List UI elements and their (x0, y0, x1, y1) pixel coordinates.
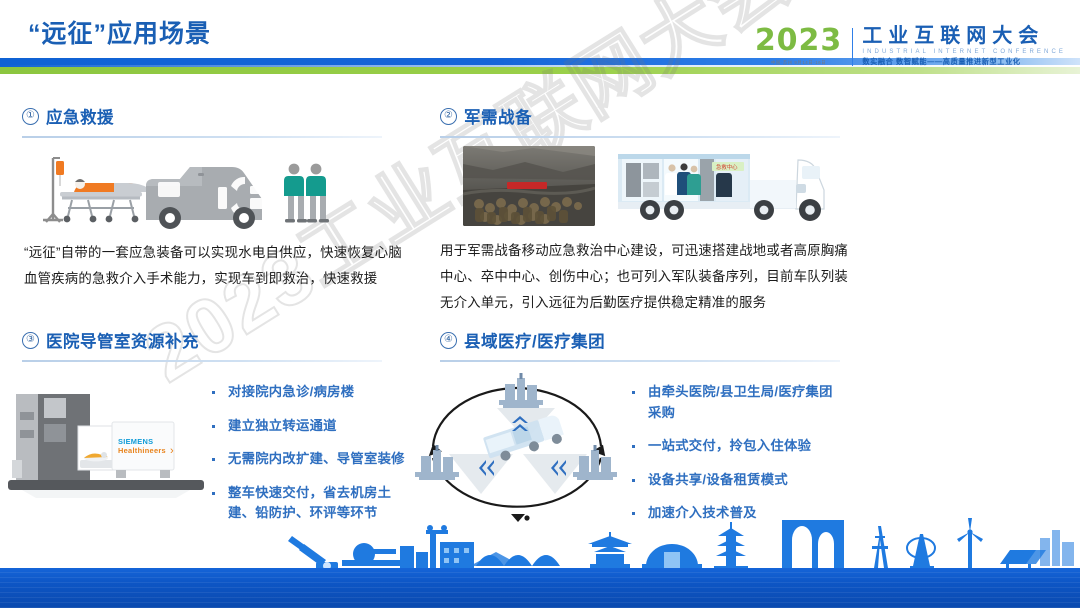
section-2-rule (440, 136, 840, 138)
hospital-sharing-cycle-diagram (405, 372, 630, 530)
section-4-title: 县域医疗/医疗集团 (464, 328, 605, 352)
section-2-header: ② 军需战备 (440, 104, 840, 128)
section-2-title: 军需战备 (464, 104, 532, 128)
section-1-rule (22, 136, 382, 138)
list-item: 由牵头医院/县卫生局/医疗集团采购 (628, 382, 843, 423)
list-item: 设备共享/设备租赁模式 (628, 470, 843, 491)
section-4-bullet-list: 由牵头医院/县卫生局/医疗集团采购 一站式交付，拎包入住体验 设备共享/设备租赁… (628, 382, 843, 537)
siemens-healthineers-scanner-illustration (8, 382, 204, 522)
section-1-header: ① 应急救援 (22, 104, 382, 128)
logo-year-block: 2023 中国·苏州 9月14日-16日 (755, 26, 853, 66)
section-emergency-rescue: ① 应急救援 (22, 104, 382, 138)
logo-year: 2023 (755, 26, 843, 56)
page-title: “远征”应用场景 (28, 14, 211, 50)
list-item: 无需院内改扩建、导管室装修 (208, 449, 418, 470)
logo-text-block: 工业互联网大会 INDUSTRIAL INTERNET CONFERENCE 数… (853, 26, 1066, 67)
section-3-bullet-list: 对接院内急诊/病房楼 建立独立转运通道 无需院内改扩建、导管室装修 整车快速交付… (208, 382, 418, 537)
svg-text:急救中心: 急救中心 (716, 163, 738, 171)
logo-year-caption: 中国·苏州 9月14日-16日 (755, 60, 843, 66)
section-4-header: ④ 县域医疗/医疗集团 (440, 328, 840, 352)
footer-water-band (0, 568, 1080, 608)
industrial-city-skyline-silhouette (0, 518, 1080, 572)
mobile-medical-truck-illustration: 急救中心 (612, 140, 847, 230)
list-item: 建立独立转运通道 (208, 416, 418, 437)
logo-chinese-subtitle: 数实融合 数智赋能——高质量推进新型工业化 (862, 57, 1066, 67)
section-1-title: 应急救援 (46, 104, 114, 128)
section-1-body: “远征”自带的一套应急装备可以实现水电自供应，快速恢复心脑血管疾病的急救介入手术… (24, 240, 402, 292)
section-1-number: ① (22, 108, 39, 125)
section-2-number: ② (440, 108, 457, 125)
section-2-body: 用于军需战备移动应急救治中心建设，可迅速搭建战地或者高原胸痛中心、卒中中心、创伤… (440, 238, 848, 316)
slide: “远征”应用场景 2023 中国·苏州 9月14日-16日 工业互联网大会 IN… (0, 0, 1080, 608)
footer-skyline (0, 518, 1080, 608)
ambulance-rescue-illustration (22, 142, 342, 234)
section-county-medical-group: ④ 县域医疗/医疗集团 (440, 328, 840, 362)
section-3-number: ③ (22, 332, 39, 349)
siemens-brand-label: SIEMENS Healthineers (118, 437, 166, 456)
section-4-number: ④ (440, 332, 457, 349)
section-3-header: ③ 医院导管室资源补充 (22, 328, 382, 352)
list-item: 对接院内急诊/病房楼 (208, 382, 418, 403)
siemens-brand-line1: SIEMENS (118, 437, 166, 446)
section-4-rule (440, 360, 840, 362)
conference-logo: 2023 中国·苏州 9月14日-16日 工业互联网大会 INDUSTRIAL … (755, 26, 1066, 67)
section-3-title: 医院导管室资源补充 (46, 328, 199, 352)
section-3-rule (22, 360, 382, 362)
header-green-band (0, 67, 1080, 74)
siemens-brand-arrow: › (170, 445, 174, 457)
list-item: 一站式交付，拎包入住体验 (628, 436, 843, 457)
military-field-photo (463, 146, 595, 226)
siemens-brand-line2: Healthineers (118, 446, 166, 455)
logo-chinese-title: 工业互联网大会 (862, 26, 1066, 47)
section-cathlab-supplement: ③ 医院导管室资源补充 (22, 328, 382, 362)
section-military-readiness: ② 军需战备 (440, 104, 840, 138)
logo-english-title: INDUSTRIAL INTERNET CONFERENCE (862, 49, 1066, 55)
